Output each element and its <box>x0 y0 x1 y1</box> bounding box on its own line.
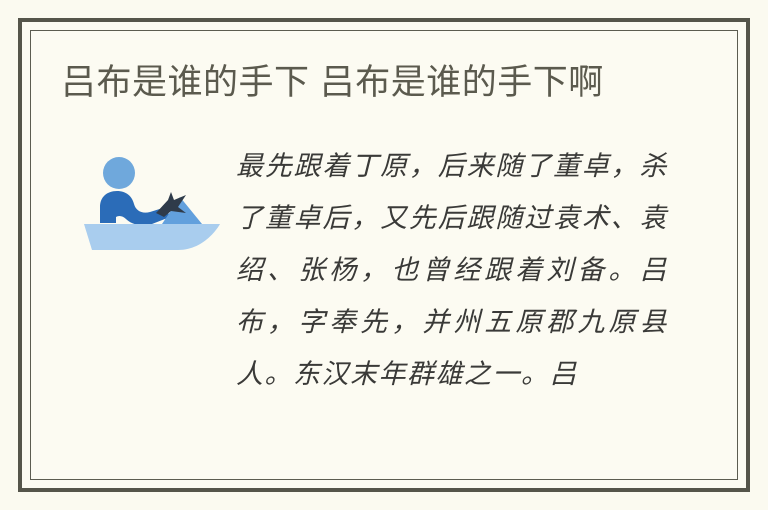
person-rowing-boat-icon <box>74 151 224 256</box>
article-body-area: 最先跟着丁原，后来随了董卓，杀了董卓后，又先后跟随过袁术、袁绍、张杨，也曾经跟着… <box>61 143 707 401</box>
article-content: 吕布是谁的手下 吕布是谁的手下啊 <box>31 31 737 479</box>
outer-border-frame: 吕布是谁的手下 吕布是谁的手下啊 <box>18 18 750 492</box>
page-title: 吕布是谁的手下 吕布是谁的手下啊 <box>61 57 661 109</box>
illustration-container <box>61 143 236 256</box>
boat-person-head-shape <box>103 157 135 189</box>
article-page: 吕布是谁的手下 吕布是谁的手下啊 <box>0 0 768 510</box>
inner-border-frame: 吕布是谁的手下 吕布是谁的手下啊 <box>30 30 738 480</box>
boat-hull-shape <box>84 224 220 250</box>
article-body-text: 最先跟着丁原，后来随了董卓，杀了董卓后，又先后跟随过袁术、袁绍、张杨，也曾经跟着… <box>236 141 668 401</box>
boat-person-body-shape <box>100 191 170 225</box>
